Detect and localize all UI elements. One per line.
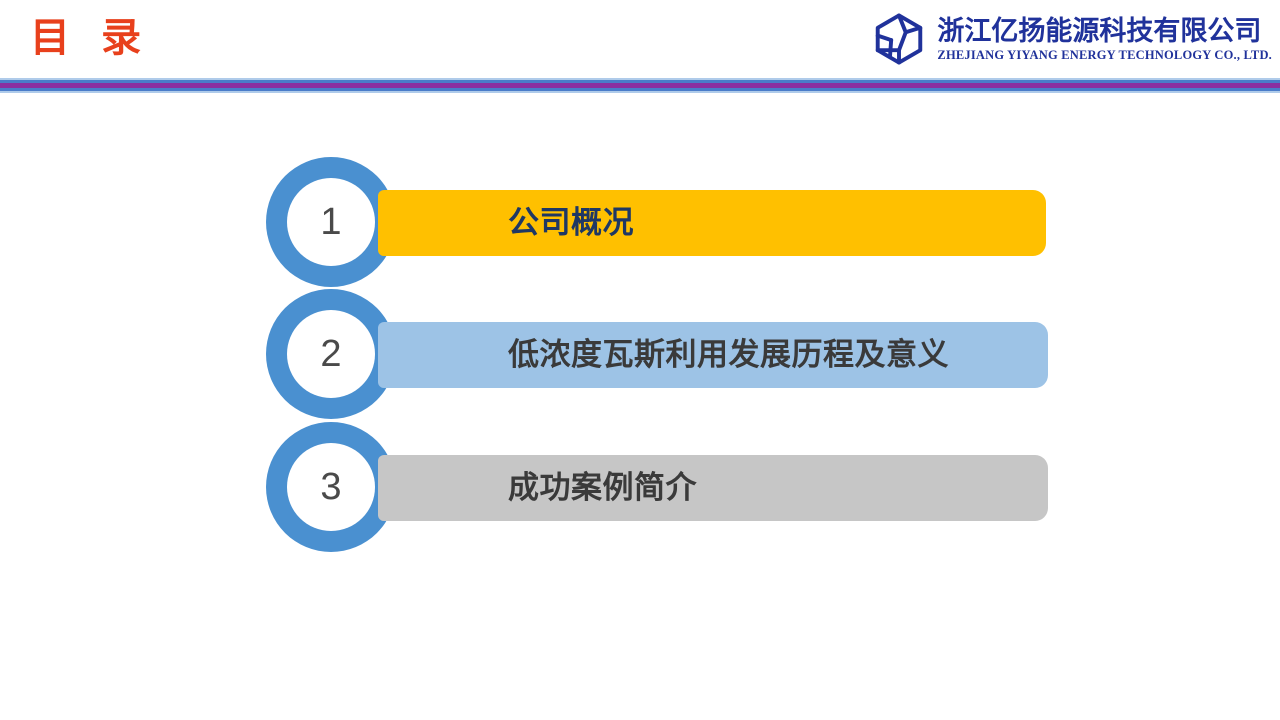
toc-item-1[interactable]: 公司概况 1 [266, 157, 1056, 289]
toc-number-2: 2 [320, 332, 341, 376]
toc-label-1: 公司概况 [508, 203, 634, 243]
toc-bar-1[interactable]: 公司概况 [378, 190, 1046, 256]
toc-item-3[interactable]: 成功案例简介 3 [266, 422, 1056, 554]
toc-number-1: 1 [320, 200, 341, 244]
toc-bar-3[interactable]: 成功案例简介 [378, 455, 1048, 521]
toc-disc-1: 1 [287, 178, 375, 266]
toc-disc-2: 2 [287, 310, 375, 398]
table-of-contents: 公司概况 1 低浓度瓦斯利用发展历程及意义 2 成功案例简介 3 [0, 0, 1280, 720]
toc-label-3: 成功案例简介 [508, 468, 697, 508]
toc-number-3: 3 [320, 465, 341, 509]
toc-item-2[interactable]: 低浓度瓦斯利用发展历程及意义 2 [266, 289, 1056, 421]
toc-bar-2[interactable]: 低浓度瓦斯利用发展历程及意义 [378, 322, 1048, 388]
toc-label-2: 低浓度瓦斯利用发展历程及意义 [508, 335, 949, 375]
toc-disc-3: 3 [287, 443, 375, 531]
